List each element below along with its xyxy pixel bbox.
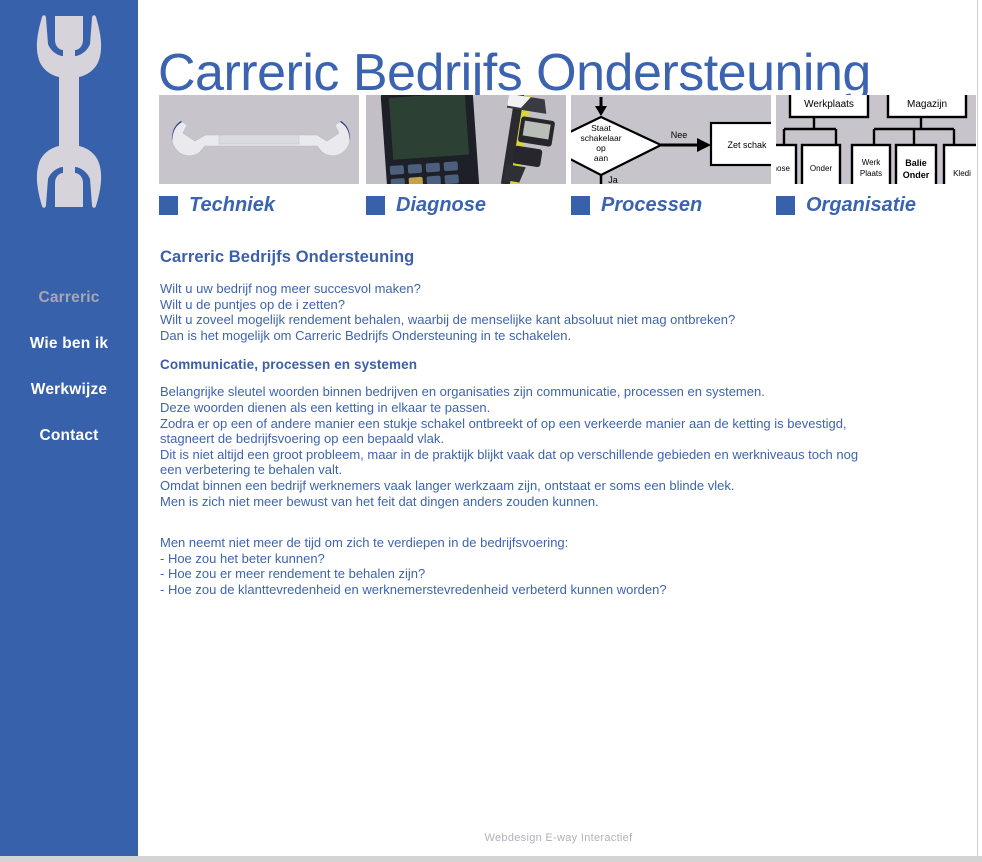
section-heading: Carreric Bedrijfs Ondersteuning (160, 248, 960, 267)
bullet-square-icon (366, 196, 385, 215)
category-organisatie[interactable]: Werkplaats Magazijn (776, 95, 976, 217)
org-bottom-box-2: Onder (810, 164, 833, 173)
flowchart-decision-line-4: aan (594, 153, 608, 163)
sidebar-nav: Carreric Wie ben ik Werkwijze Contact (0, 275, 138, 459)
body-paragraph: Belangrijke sleutel woorden binnen bedri… (160, 384, 960, 509)
svg-text:Onder: Onder (903, 170, 930, 180)
questions-paragraph: Men neemt niet meer de tijd om zich te v… (160, 535, 960, 597)
question-line-1: Men neemt niet meer de tijd om zich te v… (160, 535, 960, 551)
svg-text:Balie: Balie (905, 158, 927, 168)
organisation-chart: Werkplaats Magazijn (776, 95, 976, 184)
category-label-organisatie: Organisatie (806, 194, 916, 217)
flowchart-decision-line-3: op (596, 143, 606, 153)
intro-paragraph: Wilt u uw bedrijf nog meer succesvol mak… (160, 281, 960, 343)
page-root: Carreric Wie ben ik Werkwijze Contact Ca… (0, 0, 982, 862)
footer-credit: Webdesign E-way Interactief (140, 832, 977, 844)
question-line-4: - Hoe zou de klanttevredenheid en werkne… (160, 582, 960, 598)
content-area: Carreric Bedrijfs Ondersteuning (140, 0, 977, 856)
body-line-8: Men is zich niet meer bewust van het fei… (160, 494, 960, 510)
wrench-icon (33, 12, 105, 212)
body-line-3: Zodra er op een of andere manier een stu… (160, 416, 960, 432)
section-subheading: Communicatie, processen en systemen (160, 357, 960, 372)
paragraph-spacer (160, 523, 960, 535)
diagnostic-tester-photo (366, 95, 566, 184)
flowchart-decision-line-1: Staat (591, 123, 611, 133)
wrench-photo (159, 95, 359, 184)
body-line-2: Deze woorden dienen als een ketting in e… (160, 400, 960, 416)
svg-text:Plaats: Plaats (860, 169, 882, 178)
org-top-box-1: Werkplaats (804, 99, 854, 110)
sidebar-item-wie-ben-ik[interactable]: Wie ben ik (0, 321, 138, 367)
category-techniek[interactable]: Techniek (159, 95, 359, 217)
category-thumbnail-strip: Techniek (159, 95, 979, 220)
intro-line-1: Wilt u uw bedrijf nog meer succesvol mak… (160, 281, 960, 297)
category-label-techniek: Techniek (189, 194, 275, 217)
org-bottom-box-5: Kledi (953, 169, 971, 178)
flowchart-branch-no: Nee (671, 130, 688, 140)
flowchart-diagram: Staat schakelaar op aan Nee Zet schak (571, 95, 771, 184)
flowchart-branch-yes: Ja (608, 175, 618, 184)
org-top-box-2: Magazijn (907, 99, 947, 110)
body-line-1: Belangrijke sleutel woorden binnen bedri… (160, 384, 960, 400)
main-text-block: Carreric Bedrijfs Ondersteuning Wilt u u… (160, 248, 960, 612)
page-bottom-border (0, 856, 982, 862)
question-line-3: - Hoe zou er meer rendement te behalen z… (160, 566, 960, 582)
category-caption: Organisatie (776, 194, 976, 217)
category-caption: Processen (571, 194, 771, 217)
svg-text:Werk: Werk (862, 158, 882, 167)
bullet-square-icon (571, 196, 590, 215)
page-title: Carreric Bedrijfs Ondersteuning (158, 43, 871, 103)
flowchart-action: Zet schak (727, 140, 767, 150)
question-line-2: - Hoe zou het beter kunnen? (160, 551, 960, 567)
category-label-diagnose: Diagnose (396, 194, 486, 217)
sidebar-item-werkwijze[interactable]: Werkwijze (0, 367, 138, 413)
sidebar: Carreric Wie ben ik Werkwijze Contact (0, 0, 138, 856)
body-line-4: stagneert de bedrijfsvoering op een bepa… (160, 431, 960, 447)
body-line-6: een verbetering te behalen valt. (160, 462, 960, 478)
category-diagnose[interactable]: Diagnose (366, 95, 566, 217)
bullet-square-icon (159, 196, 178, 215)
intro-line-4: Dan is het mogelijk om Carreric Bedrijfs… (160, 328, 960, 344)
flowchart-decision-line-2: schakelaar (580, 133, 621, 143)
sidebar-item-carreric[interactable]: Carreric (0, 275, 138, 321)
org-bottom-box-1: gnose (776, 164, 790, 173)
bullet-square-icon (776, 196, 795, 215)
category-processen[interactable]: Staat schakelaar op aan Nee Zet schak (571, 95, 771, 217)
sidebar-item-contact[interactable]: Contact (0, 413, 138, 459)
category-label-processen: Processen (601, 194, 702, 217)
category-caption: Diagnose (366, 194, 566, 217)
category-caption: Techniek (159, 194, 359, 217)
intro-line-3: Wilt u zoveel mogelijk rendement behalen… (160, 312, 960, 328)
body-line-7: Omdat binnen een bedrijf werknemers vaak… (160, 478, 960, 494)
intro-line-2: Wilt u de puntjes op de i zetten? (160, 297, 960, 313)
body-line-5: Dit is niet altijd een groot probleem, m… (160, 447, 960, 463)
